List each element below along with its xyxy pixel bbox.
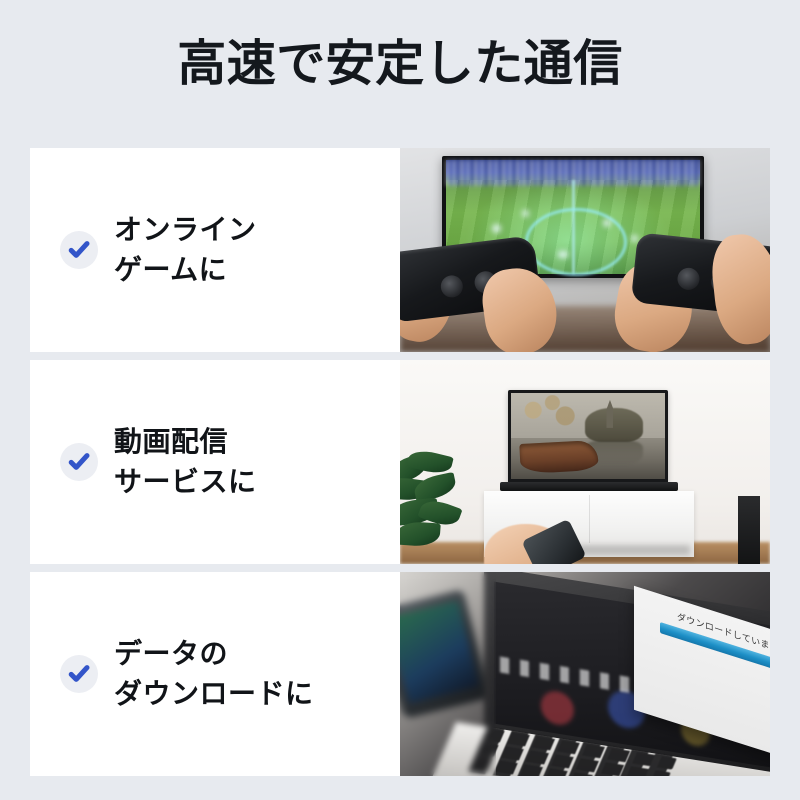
card-label: 動画配信 サービスに <box>114 422 257 502</box>
check-circle-icon <box>60 443 98 481</box>
check-circle-icon <box>60 231 98 269</box>
feature-card-video-streaming: 動画配信 サービスに <box>30 360 770 564</box>
feature-card-online-game: オンライン ゲームに <box>30 148 770 352</box>
card-content: 動画配信 サービスに <box>30 360 400 564</box>
card-label: データの ダウンロードに <box>114 634 314 714</box>
page-title: 高速で安定した通信 <box>0 36 800 94</box>
photo-data-download: ダウンロードしています・・・86% <box>400 572 770 776</box>
card-label: オンライン ゲームに <box>114 210 257 290</box>
tv-screen-scenery <box>508 390 668 484</box>
check-circle-icon <box>60 655 98 693</box>
photo-video-streaming <box>400 360 770 564</box>
card-content: オンライン ゲームに <box>30 148 400 352</box>
houseplant <box>400 452 478 564</box>
feature-card-list: オンライン ゲームに <box>30 148 770 776</box>
feature-card-data-download: データの ダウンロードに ダウンロードしています・・・86% <box>30 572 770 776</box>
floor-speaker <box>738 496 760 564</box>
card-content: データの ダウンロードに <box>30 572 400 776</box>
photo-online-gaming <box>400 148 770 352</box>
promo-page: 高速で安定した通信 オンライン ゲームに <box>0 0 800 800</box>
